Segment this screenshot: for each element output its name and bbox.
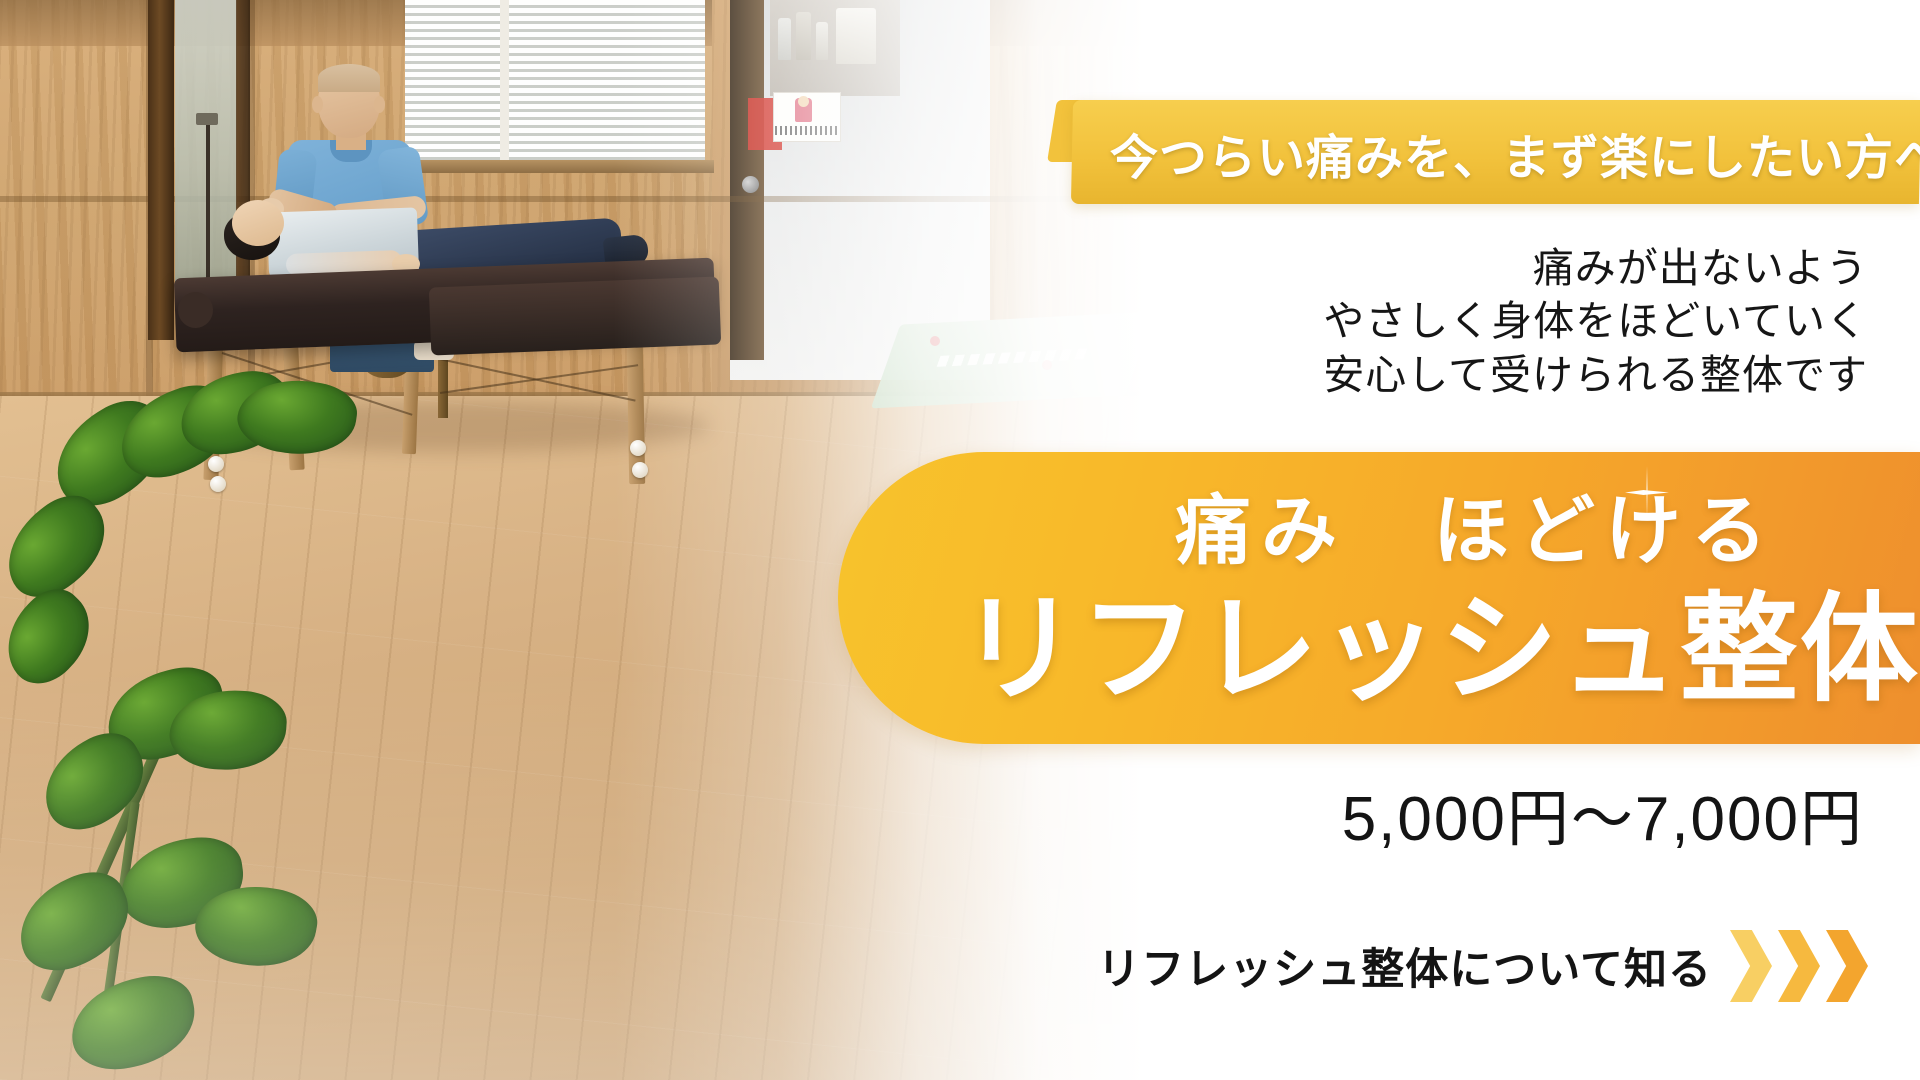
- sparkle-icon: [1625, 466, 1669, 520]
- lead-line-3: 安心して受けられる整体です: [1048, 349, 1868, 402]
- cta-label: リフレッシュ整体について知る: [1097, 935, 1712, 997]
- lead-line-1: 痛みが出ないよう: [1048, 242, 1868, 295]
- chevron-right-icon: [1826, 930, 1868, 1002]
- price-text: 5,000円〜7,000円: [964, 768, 1864, 858]
- cta-button[interactable]: リフレッシュ整体について知る: [1097, 930, 1868, 1002]
- service-title-line-2: リフレッシュ整体: [890, 572, 1920, 704]
- chevron-right-icon-group: [1730, 930, 1868, 1002]
- chevron-right-icon: [1778, 930, 1820, 1002]
- lead-paragraph: 痛みが出ないよう やさしく身体をほどいていく 安心して受けられる整体です: [1048, 242, 1868, 402]
- hero-content: 今つらい痛みを、まず楽にしたい方へ 痛みが出ないよう やさしく身体をほどいていく…: [0, 0, 1920, 1080]
- chevron-right-icon: [1730, 930, 1772, 1002]
- headline-text: 今つらい痛みを、まず楽にしたい方へ: [1110, 118, 1920, 188]
- hero-banner: 今つらい痛みを、まず楽にしたい方へ 痛みが出ないよう やさしく身体をほどいていく…: [0, 0, 1920, 1080]
- lead-line-2: やさしく身体をほどいていく: [1048, 295, 1868, 348]
